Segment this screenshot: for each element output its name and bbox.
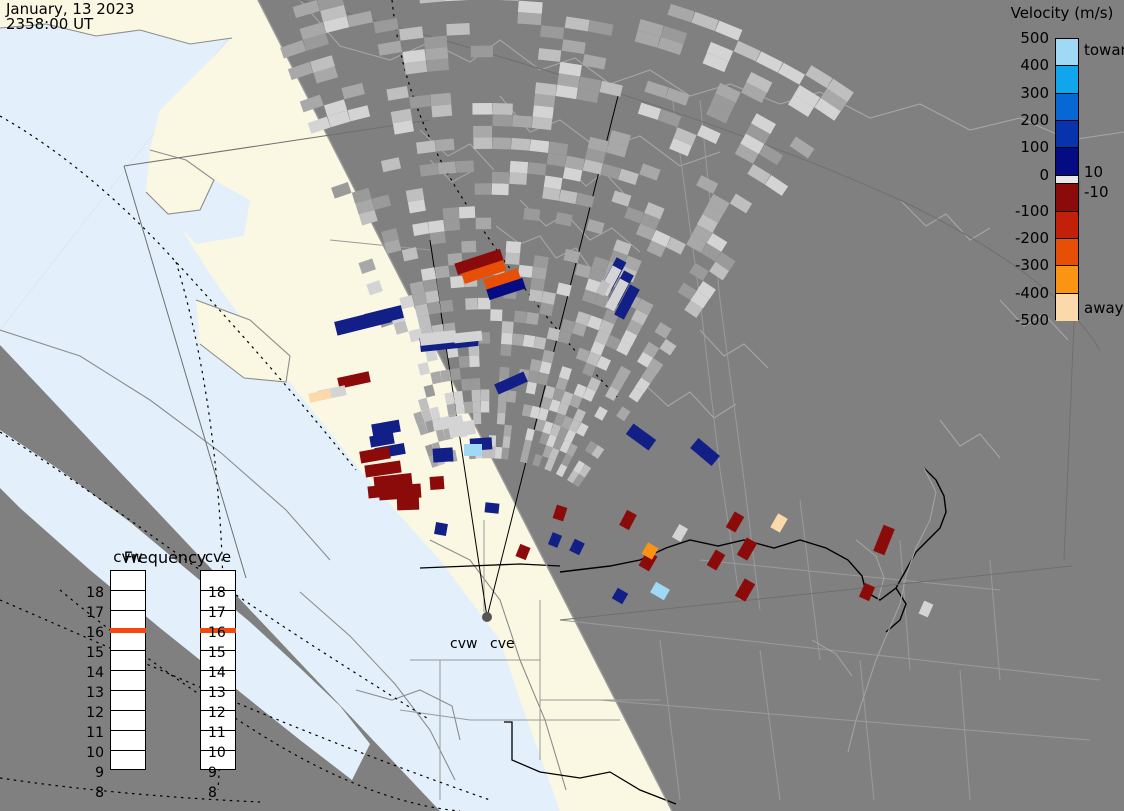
groundscatter-cell <box>533 255 549 268</box>
groundscatter-cell <box>497 401 506 413</box>
groundscatter-cell <box>510 161 528 174</box>
groundscatter-cell <box>481 389 490 401</box>
groundscatter-cell <box>492 114 512 126</box>
groundscatter-cell <box>456 160 474 172</box>
frequency-scale-right-14: 14 <box>208 665 232 681</box>
frequency-scale-left-11: 11 <box>80 725 104 741</box>
groundscatter-cell <box>518 1 543 14</box>
groundscatter-cell <box>541 291 556 305</box>
groundscatter-cell <box>476 218 492 230</box>
groundscatter-cell <box>501 332 513 344</box>
groundscatter-cell <box>443 207 460 220</box>
groundscatter-cell <box>530 139 550 152</box>
frequency-segment <box>111 671 145 691</box>
groundscatter-cell <box>435 266 450 279</box>
groundscatter-cell <box>501 447 509 459</box>
colorbar-tick-100: 100 <box>1020 138 1049 156</box>
groundscatter-cell <box>438 161 457 174</box>
groundscatter-cell <box>523 208 540 221</box>
groundscatter-cell <box>440 369 451 382</box>
frequency-scale-left-9: 9 <box>80 765 104 781</box>
groundscatter-cell <box>512 115 532 128</box>
groundscatter-cell <box>478 298 490 310</box>
frequency-segment <box>111 571 145 591</box>
groundscatter-cell <box>450 368 461 381</box>
groundscatter-cell <box>469 355 480 367</box>
frequency-segment <box>111 631 145 651</box>
colorbar-band--350 <box>1056 266 1078 293</box>
frequency-scale-right-16: 16 <box>208 625 232 641</box>
colorbar-band--50 <box>1056 184 1078 211</box>
groundscatter-cell <box>416 140 436 154</box>
groundscatter-cell <box>490 309 502 321</box>
frequency-scale-right-11: 11 <box>208 725 232 741</box>
groundscatter-cell <box>450 276 464 289</box>
colorbar-tick--200: -200 <box>1015 229 1049 247</box>
groundscatter-cell <box>461 379 471 391</box>
groundscatter-cell <box>471 378 481 390</box>
groundscatter-cell <box>417 315 431 329</box>
velocity-cell <box>433 447 454 462</box>
groundscatter-cell <box>533 105 554 119</box>
groundscatter-cell <box>511 138 530 151</box>
velocity-cell <box>430 476 445 490</box>
groundscatter-cell <box>532 266 547 279</box>
groundscatter-cell <box>459 356 470 368</box>
groundscatter-cell <box>473 412 481 424</box>
frequency-scale-right-8: 8 <box>208 785 232 801</box>
colorbar-tick--300: -300 <box>1015 256 1049 274</box>
velocity-cell <box>397 496 419 511</box>
frequency-channel-name-cve: cve <box>195 548 241 566</box>
colorbar-band-350 <box>1056 66 1078 93</box>
colorbar-tick-400: 400 <box>1020 56 1049 74</box>
groundscatter-cell <box>505 252 520 264</box>
groundscatter-cell <box>423 279 438 293</box>
groundscatter-cell <box>473 126 492 138</box>
groundscatter-cell <box>426 58 449 71</box>
groundscatter-cell <box>497 413 506 425</box>
timestamp: January, 13 2023 2358:00 UT <box>6 2 134 32</box>
radar-station-dot <box>482 612 492 622</box>
groundscatter-cell <box>471 390 480 402</box>
frequency-scale-left-13: 13 <box>80 685 104 701</box>
radar-map-canvas: January, 13 2023 2358:00 UT Velocity (m/… <box>0 0 1124 811</box>
groundscatter-cell <box>506 241 521 253</box>
groundscatter-cell <box>530 278 545 291</box>
groundscatter-cell <box>425 290 439 303</box>
frequency-scale-right-9: 9 <box>208 765 232 781</box>
frequency-segment <box>111 591 145 611</box>
frequency-segment <box>111 751 145 771</box>
frequency-scale-left-17: 17 <box>80 605 104 621</box>
colorbar-tick-300: 300 <box>1020 84 1049 102</box>
colorbar-band-0 <box>1056 176 1078 185</box>
colorbar-title: Velocity (m/s) <box>1004 4 1120 22</box>
groundscatter-cell <box>424 36 448 49</box>
groundscatter-cell <box>425 47 448 60</box>
colorbar-tick-200: 200 <box>1020 111 1049 129</box>
frequency-scale-right-15: 15 <box>208 645 232 661</box>
groundscatter-cell <box>472 401 481 413</box>
groundscatter-cell <box>530 359 542 372</box>
site-label-cvw: cvw <box>450 636 477 652</box>
groundscatter-cell <box>440 300 454 313</box>
groundscatter-cell <box>459 206 475 218</box>
frequency-segment <box>111 691 145 711</box>
groundscatter-cell <box>419 163 438 177</box>
groundscatter-cell <box>430 231 446 244</box>
groundscatter-cell <box>527 162 546 175</box>
groundscatter-cell <box>428 220 445 233</box>
groundscatter-cell <box>492 183 509 195</box>
frequency-scale-right-17: 17 <box>208 605 232 621</box>
groundscatter-cell <box>492 137 511 149</box>
frequency-scale-left-15: 15 <box>80 645 104 661</box>
groundscatter-cell <box>518 265 533 278</box>
site-label-cve: cve <box>490 636 515 652</box>
colorbar-band-450 <box>1056 39 1078 66</box>
groundscatter-cell <box>481 401 489 413</box>
frequency-scale-right-18: 18 <box>208 585 232 601</box>
groundscatter-cell <box>502 436 510 448</box>
colorbar-band-50 <box>1056 148 1078 175</box>
groundscatter-cell <box>500 344 511 356</box>
groundscatter-cell <box>430 93 451 106</box>
groundscatter-cell <box>532 117 553 131</box>
groundscatter-cell <box>427 301 441 314</box>
groundscatter-cell <box>534 94 556 108</box>
colorbar-band-150 <box>1056 121 1078 148</box>
velocity-colorbar: Velocity (m/s) 5004003002001000-100-200-… <box>1004 2 1124 332</box>
frequency-segment <box>111 651 145 671</box>
colorbar-tick-0: 0 <box>1039 166 1049 184</box>
groundscatter-cell <box>509 172 527 185</box>
frequency-legend: Frequency cvwcve181817171616151514141313… <box>80 548 250 793</box>
groundscatter-cell <box>444 219 460 232</box>
frequency-segment <box>111 711 145 731</box>
groundscatter-cell <box>499 367 509 379</box>
time-label: 2358:00 UT <box>6 15 93 33</box>
groundscatter-cell <box>535 82 557 96</box>
frequency-bar-cvw <box>110 570 146 770</box>
velocity-cell <box>485 502 500 513</box>
frequency-segment <box>111 731 145 751</box>
frequency-scale-right-10: 10 <box>208 745 232 761</box>
frequency-scale-right-13: 13 <box>208 685 232 701</box>
groundscatter-cell <box>492 172 510 184</box>
frequency-scale-left-16: 16 <box>80 625 104 641</box>
groundscatter-cell <box>461 241 476 253</box>
colorbar-tick--500: -500 <box>1015 311 1049 329</box>
groundscatter-cell <box>471 46 493 58</box>
frequency-scale-left-10: 10 <box>80 745 104 761</box>
groundscatter-cell <box>514 311 527 324</box>
groundscatter-cell <box>503 425 512 437</box>
colorbar-band-250 <box>1056 94 1078 121</box>
groundscatter-cell <box>539 303 553 317</box>
groundscatter-cell <box>446 23 470 36</box>
groundscatter-cell <box>453 391 463 403</box>
colorbar-tick--100: -100 <box>1015 202 1049 220</box>
colorbar-band--450 <box>1056 294 1078 321</box>
groundscatter-cell <box>523 335 536 348</box>
groundscatter-cell <box>475 183 492 195</box>
frequency-scale-left-12: 12 <box>80 705 104 721</box>
groundscatter-cell <box>465 298 478 310</box>
colorbar-label-zero-negative: -10 <box>1084 183 1109 201</box>
velocity-cell <box>464 444 482 456</box>
colorbar-band--150 <box>1056 212 1078 239</box>
frequency-scale-left-8: 8 <box>80 785 104 801</box>
frequency-marker-cvw <box>110 628 146 633</box>
groundscatter-cell <box>493 103 513 115</box>
groundscatter-cell <box>421 267 436 281</box>
groundscatter-cell <box>526 312 539 325</box>
velocity-cell <box>434 522 448 536</box>
frequency-scale-left-18: 18 <box>80 585 104 601</box>
colorbar-tick-500: 500 <box>1020 29 1049 47</box>
groundscatter-cell <box>517 12 541 25</box>
groundscatter-cell <box>431 104 452 117</box>
colorbar-label-zero-positive: 10 <box>1084 163 1103 181</box>
groundscatter-cell <box>529 289 543 302</box>
groundscatter-cell <box>512 333 524 346</box>
groundscatter-cell <box>472 103 492 115</box>
frequency-channel-name-cvw: cvw <box>105 548 151 566</box>
colorbar-label-toward: toward <box>1084 41 1124 59</box>
colorbar-tick--400: -400 <box>1015 284 1049 302</box>
groundscatter-cell <box>502 321 514 333</box>
groundscatter-cell <box>464 401 473 413</box>
groundscatter-cell <box>455 402 465 414</box>
frequency-scale-left-14: 14 <box>80 665 104 681</box>
colorbar-band--250 <box>1056 239 1078 266</box>
groundscatter-cell <box>533 336 546 349</box>
colorbar-label-away: away <box>1084 299 1124 317</box>
colorbar-gradient <box>1055 38 1079 320</box>
groundscatter-cell <box>473 137 492 149</box>
groundscatter-cell <box>507 390 517 402</box>
frequency-scale-right-12: 12 <box>208 705 232 721</box>
groundscatter-cell <box>435 138 455 151</box>
